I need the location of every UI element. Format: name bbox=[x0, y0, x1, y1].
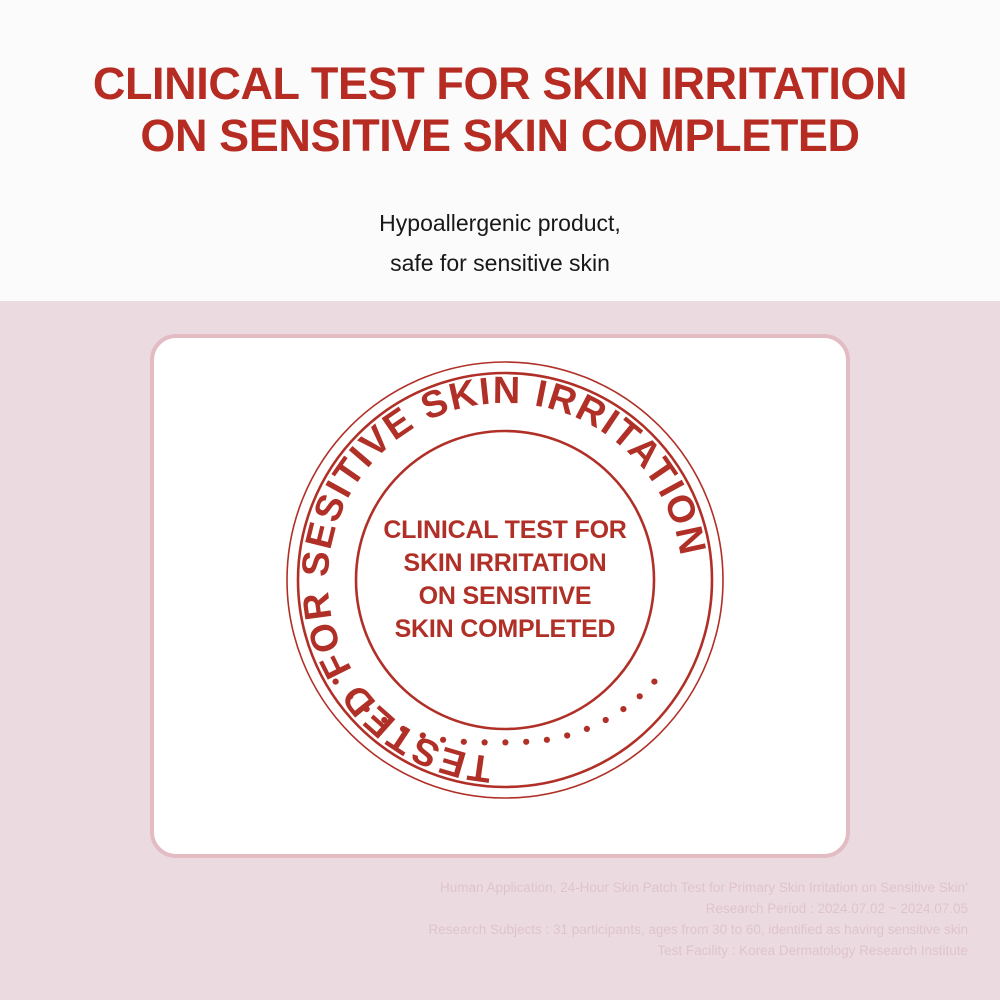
footnote-line-test-facility: Test Facility : Korea Dermatology Resear… bbox=[0, 940, 968, 961]
page-title-line-1: CLINICAL TEST FOR SKIN IRRITATION bbox=[0, 58, 1000, 110]
page-title-line-2: ON SENSITIVE SKIN COMPLETED bbox=[0, 110, 1000, 162]
page-subtitle-line-1: Hypoallergenic product, bbox=[0, 203, 1000, 243]
footnote-line-research-subjects: Research Subjects : 31 participants, age… bbox=[0, 919, 968, 940]
promo-page: CLINICAL TEST FOR SKIN IRRITATION ON SEN… bbox=[0, 0, 1000, 1000]
footnote-line-research-period: Research Period : 2024.07.02 ~ 2024.07.0… bbox=[0, 898, 968, 919]
header-band: CLINICAL TEST FOR SKIN IRRITATION ON SEN… bbox=[0, 0, 1000, 301]
seal-graphic: TESTED FOR SESITIVE SKIN IRRITATION bbox=[280, 355, 730, 805]
study-footnote: Human Application, 24-Hour Skin Patch Te… bbox=[0, 877, 968, 961]
page-subtitle: Hypoallergenic product, safe for sensiti… bbox=[0, 203, 1000, 283]
footnote-line-study-name: Human Application, 24-Hour Skin Patch Te… bbox=[0, 877, 968, 898]
seal-inner-ring bbox=[356, 431, 654, 729]
seal-outer-ring bbox=[287, 362, 723, 798]
page-subtitle-line-2: safe for sensitive skin bbox=[0, 243, 1000, 283]
certification-seal: TESTED FOR SESITIVE SKIN IRRITATION bbox=[280, 355, 730, 805]
page-title: CLINICAL TEST FOR SKIN IRRITATION ON SEN… bbox=[0, 58, 1000, 162]
